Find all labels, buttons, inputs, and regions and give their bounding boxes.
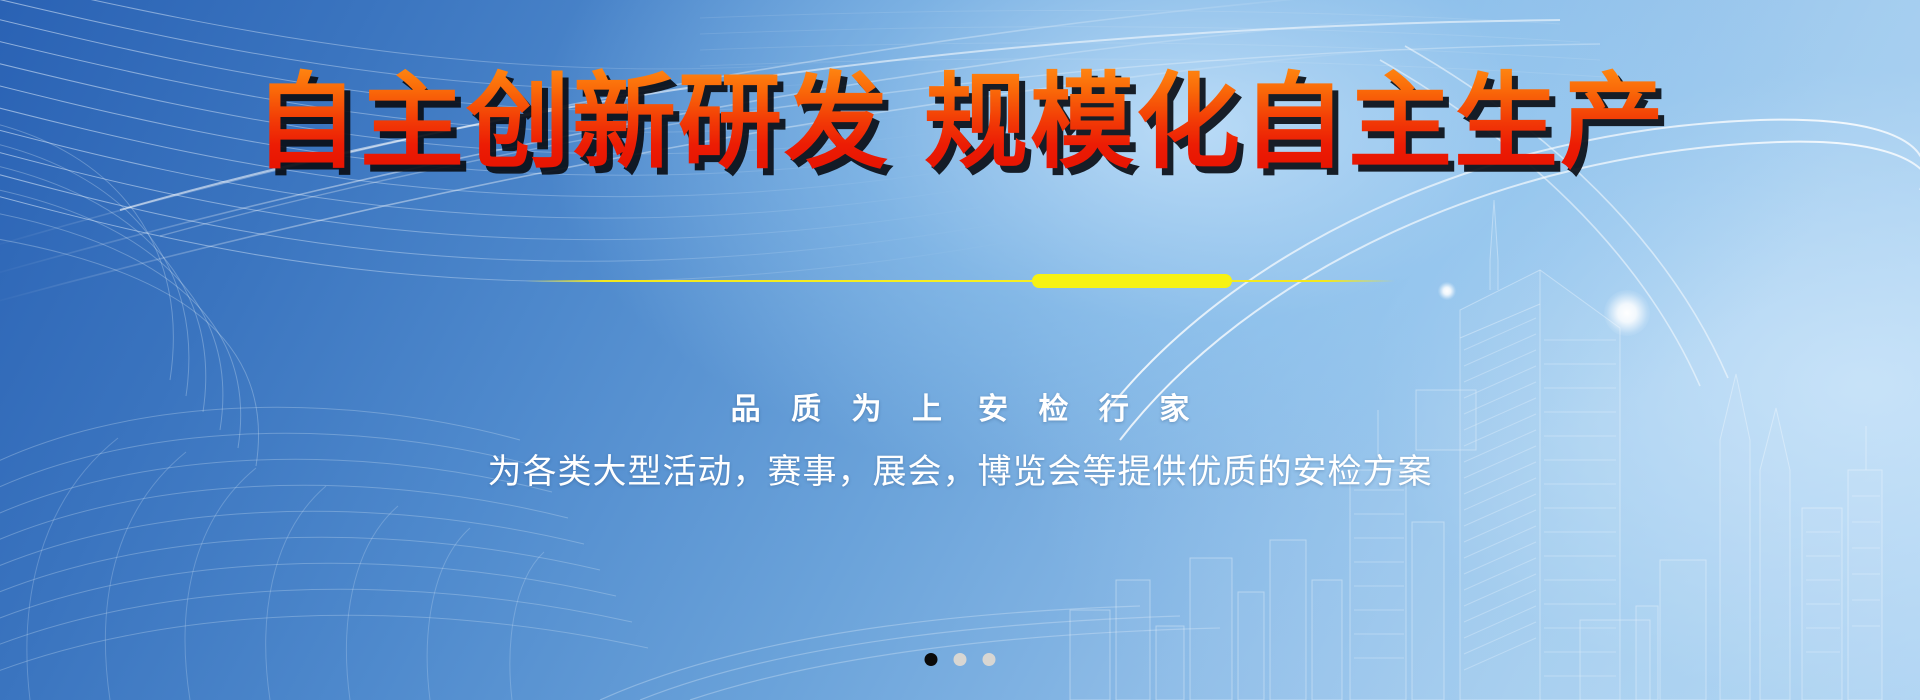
- subtitle: 为各类大型活动，赛事，展会，博览会等提供优质的安检方案: [0, 444, 1920, 493]
- carousel-dot-1[interactable]: [925, 653, 938, 666]
- divider-accent-bar: [1032, 274, 1232, 288]
- banner-content: 自主创新研发规模化自主生产 品 质 为 上安 检 行 家 为各类大型活动，赛事，…: [0, 0, 1920, 700]
- carousel-indicators: [925, 653, 996, 666]
- headline-part-1: 自主创新研发: [254, 61, 890, 183]
- page-title: 自主创新研发规模化自主生产: [0, 64, 1920, 180]
- tagline-left: 品 质 为 上: [731, 392, 952, 427]
- divider: [525, 274, 1395, 288]
- headline-part-2: 规模化自主生产: [924, 61, 1666, 183]
- carousel-dot-3[interactable]: [983, 653, 996, 666]
- tagline-right: 安 检 行 家: [978, 392, 1199, 427]
- hero-banner: 自主创新研发规模化自主生产 品 质 为 上安 检 行 家 为各类大型活动，赛事，…: [0, 0, 1920, 700]
- tagline: 品 质 为 上安 检 行 家: [0, 384, 1920, 428]
- carousel-dot-2[interactable]: [954, 653, 967, 666]
- divider-thin-line: [525, 280, 1395, 282]
